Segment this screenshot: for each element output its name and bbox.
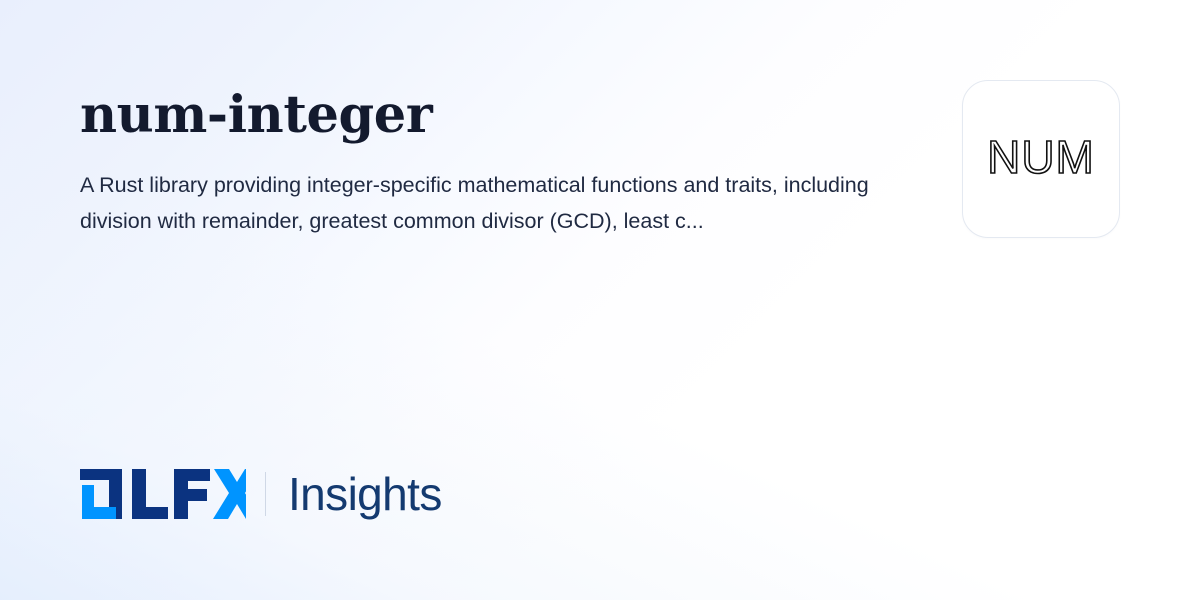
num-logo-icon: NUM [985, 132, 1097, 186]
project-description: A Rust library providing integer-specifi… [80, 146, 870, 239]
og-share-card: num-integer A Rust library providing int… [0, 0, 1200, 600]
brand-lockup: Insights [80, 466, 442, 522]
lfx-letter-f [174, 469, 210, 519]
num-logo-text: NUM [987, 132, 1095, 183]
card-content: num-integer A Rust library providing int… [0, 0, 1200, 600]
lfx-letter-l [132, 469, 168, 519]
header-row: num-integer A Rust library providing int… [80, 80, 1120, 239]
lfx-logo-icon [80, 469, 246, 519]
brand-product-name: Insights [288, 469, 442, 519]
page-title: num-integer [80, 84, 880, 146]
lfx-bracket-icon [80, 469, 122, 519]
brand-divider [265, 472, 266, 516]
project-logo-card: NUM [962, 80, 1120, 238]
lfx-letter-x [213, 469, 246, 519]
header-text-block: num-integer A Rust library providing int… [80, 80, 880, 239]
